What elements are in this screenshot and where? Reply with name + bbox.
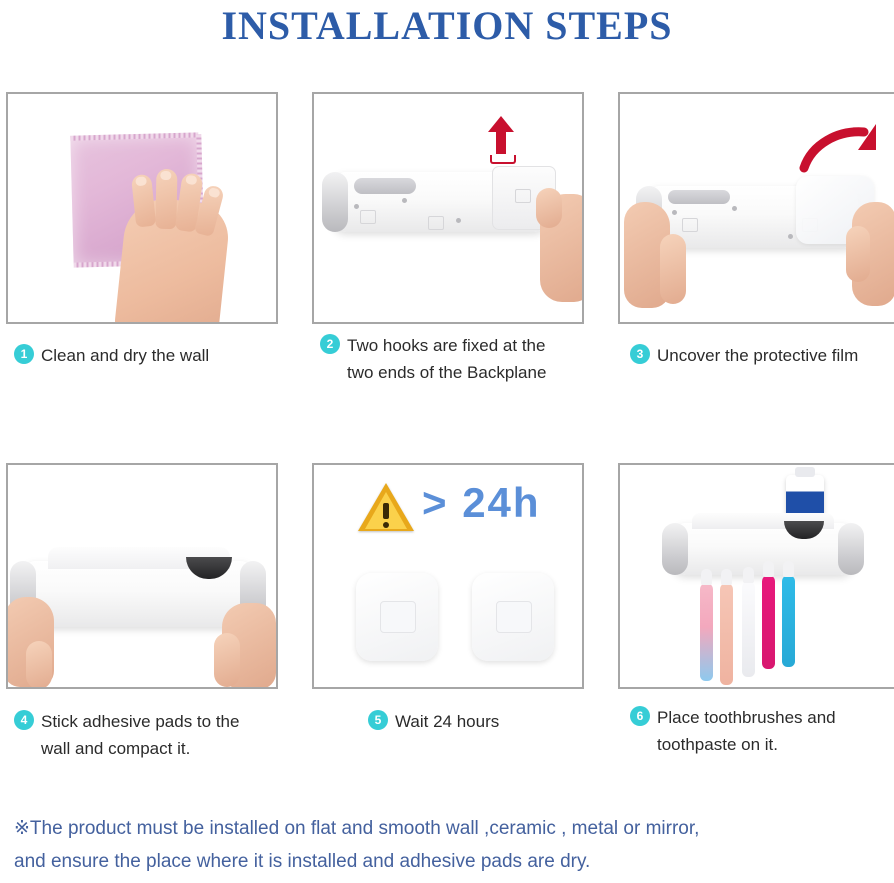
- toothbrush: [762, 575, 775, 669]
- step-5-caption: 5 Wait 24 hours: [368, 708, 578, 735]
- step-4-text-line2: wall and compact it.: [41, 735, 239, 762]
- step-4-caption: 4 Stick adhesive pads to the wall and co…: [14, 708, 266, 762]
- step-4-text-line1: Stick adhesive pads to the: [41, 708, 239, 735]
- step-badge-4: 4: [14, 710, 34, 730]
- step-badge-6: 6: [630, 706, 650, 726]
- note-line2: and ensure the place where it is install…: [14, 845, 892, 878]
- step-badge-1: 1: [14, 344, 34, 364]
- up-arrow-icon: [488, 116, 514, 160]
- note-line1: The product must be installed on flat an…: [30, 818, 700, 839]
- wait-duration-label: > 24h: [422, 479, 541, 527]
- step-2-image-panel: [312, 92, 584, 324]
- step-6-text-line1: Place toothbrushes and: [657, 704, 836, 731]
- toothbrush: [720, 583, 733, 685]
- installation-note: ※The product must be installed on flat a…: [14, 812, 892, 879]
- step-5-text: Wait 24 hours: [395, 708, 499, 735]
- step-4-image-panel: [6, 463, 278, 689]
- step-1-text: Clean and dry the wall: [41, 342, 209, 369]
- toothbrush: [742, 581, 755, 677]
- step-2-text-line1: Two hooks are fixed at the: [347, 332, 546, 359]
- page-title: INSTALLATION STEPS: [0, 2, 894, 49]
- step-1-image-panel: [6, 92, 278, 324]
- toothbrush: [700, 583, 713, 681]
- scene-mounted-holder: [620, 465, 894, 687]
- step-badge-5: 5: [368, 710, 388, 730]
- holder-device: [22, 561, 254, 627]
- scene-wait-24-hours: > 24h: [314, 465, 582, 687]
- curved-arrow-icon: [798, 120, 882, 176]
- step-6-image-panel: [618, 463, 894, 689]
- reference-mark-icon: ※: [14, 818, 30, 839]
- step-2-text-line2: two ends of the Backplane: [347, 359, 546, 386]
- step-3-text: Uncover the protective film: [657, 342, 858, 369]
- step-5-image-panel: > 24h: [312, 463, 584, 689]
- warning-triangle-icon: [358, 483, 414, 533]
- installation-steps-infographic: INSTALLATION STEPS: [0, 0, 894, 883]
- step-1-caption: 1 Clean and dry the wall: [14, 342, 284, 369]
- step-3-caption: 3 Uncover the protective film: [630, 342, 894, 369]
- adhesive-pad: [356, 573, 438, 661]
- step-6-text-line2: toothpaste on it.: [657, 731, 836, 758]
- scene-uncover-film: [620, 94, 894, 322]
- adhesive-pad: [472, 573, 554, 661]
- scene-clean-wall: [8, 94, 276, 322]
- step-badge-2: 2: [320, 334, 340, 354]
- step-6-caption: 6 Place toothbrushes and toothpaste on i…: [630, 704, 894, 758]
- step-3-image-panel: [618, 92, 894, 324]
- toothbrush: [782, 575, 795, 667]
- step-2-caption: 2 Two hooks are fixed at the two ends of…: [320, 332, 586, 386]
- scene-backplane-hooks: [314, 94, 582, 322]
- step-badge-3: 3: [630, 344, 650, 364]
- scene-stick-adhesive-pads: [8, 465, 276, 687]
